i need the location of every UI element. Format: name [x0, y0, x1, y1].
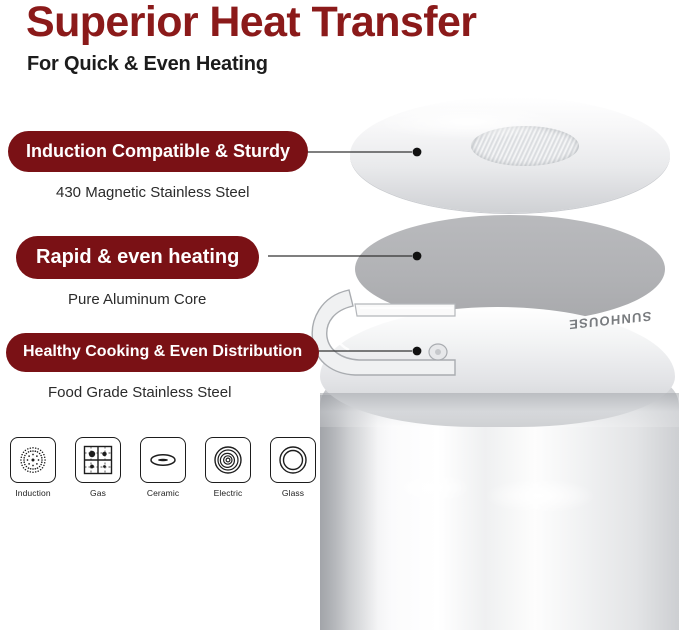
- ceramic-icon: [145, 442, 181, 478]
- compat-box-glass: [270, 437, 316, 483]
- compat-label-gas: Gas: [75, 488, 121, 498]
- callout-3-subtext: Food Grade Stainless Steel: [48, 384, 319, 401]
- callout-1-subtext: 430 Magnetic Stainless Steel: [56, 184, 308, 201]
- compat-label-electric: Electric: [205, 488, 251, 498]
- callout-induction: Induction Compatible & Sturdy 430 Magnet…: [8, 131, 308, 201]
- induction-icon: [15, 442, 51, 478]
- callout-2-pill: Rapid & even heating: [16, 236, 259, 279]
- compatibility-row: Induction Gas: [10, 437, 316, 498]
- callout-rapid-heating: Rapid & even heating Pure Aluminum Core: [16, 236, 259, 308]
- compat-box-ceramic: [140, 437, 186, 483]
- callout-2-subtext: Pure Aluminum Core: [68, 291, 259, 308]
- compat-item-gas: Gas: [75, 437, 121, 498]
- compat-box-gas: [75, 437, 121, 483]
- compat-item-induction: Induction: [10, 437, 56, 498]
- callout-healthy-cooking: Healthy Cooking & Even Distribution Food…: [6, 333, 319, 401]
- compat-item-ceramic: Ceramic: [140, 437, 186, 498]
- leader-lines: [0, 0, 679, 630]
- compat-label-glass: Glass: [270, 488, 316, 498]
- callout-3-pill: Healthy Cooking & Even Distribution: [6, 333, 319, 372]
- electric-icon: [210, 442, 246, 478]
- compat-box-electric: [205, 437, 251, 483]
- gas-icon: [80, 442, 116, 478]
- compat-label-ceramic: Ceramic: [140, 488, 186, 498]
- compat-item-electric: Electric: [205, 437, 251, 498]
- callout-1-pill: Induction Compatible & Sturdy: [8, 131, 308, 172]
- compat-label-induction: Induction: [10, 488, 56, 498]
- compat-item-glass: Glass: [270, 437, 316, 498]
- glass-icon: [275, 442, 311, 478]
- compat-box-induction: [10, 437, 56, 483]
